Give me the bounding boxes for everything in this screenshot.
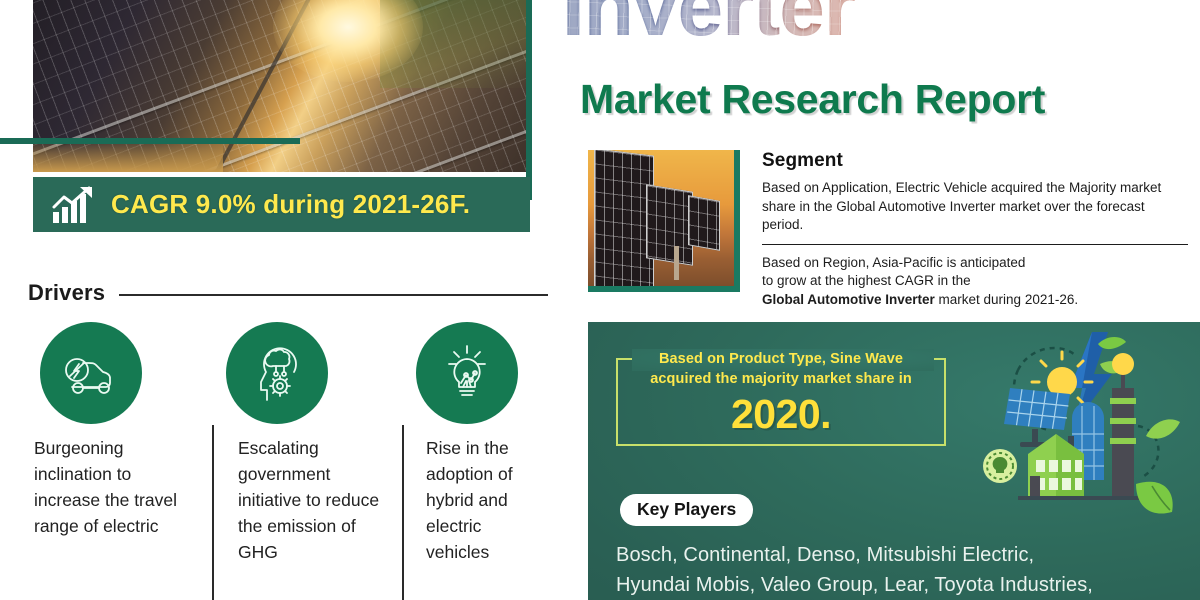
segment-market-name: Global Automotive Inverter xyxy=(762,292,935,307)
driver-column-3: Rise in the adoption of hybrid and elect… xyxy=(404,435,558,600)
hero-solar-panel-photo xyxy=(33,0,530,172)
lightbulb-idea-icon xyxy=(436,342,498,404)
report-subtitle: Market Research Report xyxy=(580,76,1045,123)
cagr-text: CAGR 9.0% during 2021-26F. xyxy=(111,189,470,220)
segment-divider xyxy=(762,244,1188,245)
segment-section: Segment Based on Application, Electric V… xyxy=(588,150,1188,300)
segment-paragraph-region-line1: Based on Region, Asia-Pacific is anticip… xyxy=(762,254,1188,273)
green-vertical-rule xyxy=(526,0,532,200)
segment-solar-photo xyxy=(588,150,740,292)
teal-panel: Based on Product Type, Sine Wave acquire… xyxy=(588,322,1200,600)
drivers-divider-line xyxy=(119,294,548,296)
electric-car-icon xyxy=(59,346,123,400)
driver-icon-circle-2 xyxy=(226,322,328,424)
report-title-inverter: Inverter xyxy=(562,0,1182,54)
segment-paragraph-application: Based on Application, Electric Vehicle a… xyxy=(762,179,1188,235)
driver-text-1: Burgeoning inclination to increase the t… xyxy=(34,435,198,539)
green-horizontal-rule xyxy=(0,138,300,144)
right-column: Inverter Market Research Report Segment … xyxy=(570,0,1200,600)
solar-panel-shape xyxy=(646,184,693,265)
driver-text-columns: Burgeoning inclination to increase the t… xyxy=(28,435,558,600)
driver-column-1: Burgeoning inclination to increase the t… xyxy=(28,435,214,600)
cagr-banner: CAGR 9.0% during 2021-26F. xyxy=(33,177,530,232)
segment-paragraph-region-line2: to grow at the highest CAGR in the xyxy=(762,272,1188,291)
left-column: CAGR 9.0% during 2021-26F. Drivers xyxy=(0,0,570,600)
panel-pole xyxy=(674,246,679,280)
segment-market-period: market during 2021-26. xyxy=(935,292,1078,307)
driver-text-3: Rise in the adoption of hybrid and elect… xyxy=(426,435,542,565)
key-players-label: Key Players xyxy=(620,494,753,526)
driver-icon-circle-1 xyxy=(40,322,142,424)
key-players-line-1: Bosch, Continental, Denso, Mitsubishi El… xyxy=(616,540,1172,570)
solar-panel-shape xyxy=(594,150,654,292)
driver-text-2: Escalating government initiative to redu… xyxy=(238,435,388,565)
growth-chart-icon xyxy=(51,185,99,225)
driver-column-2: Escalating government initiative to redu… xyxy=(214,435,404,600)
infographic-page: CAGR 9.0% during 2021-26F. Drivers xyxy=(0,0,1200,600)
product-type-year: 2020. xyxy=(618,390,944,438)
drivers-heading: Drivers xyxy=(28,280,548,306)
driver-icon-row xyxy=(28,322,556,422)
solar-panel-shape xyxy=(688,195,720,251)
product-type-callout: Based on Product Type, Sine Wave acquire… xyxy=(616,358,946,446)
segment-heading: Segment xyxy=(762,150,1188,172)
segment-paragraph-region-line3: Global Automotive Inverter market during… xyxy=(762,291,1188,310)
key-players-line-2: Hyundai Mobis, Valeo Group, Lear, Toyota… xyxy=(616,570,1172,600)
product-type-line-1: Based on Product Type, Sine Wave xyxy=(618,350,944,369)
drivers-title: Drivers xyxy=(28,280,105,306)
driver-icon-circle-3 xyxy=(416,322,518,424)
green-energy-illustration xyxy=(966,326,1194,531)
key-players-list: Bosch, Continental, Denso, Mitsubishi El… xyxy=(616,540,1172,600)
segment-body: Segment Based on Application, Electric V… xyxy=(762,150,1188,309)
brain-gear-head-icon xyxy=(249,343,305,403)
product-type-line-2: acquired the majority market share in xyxy=(618,370,944,389)
